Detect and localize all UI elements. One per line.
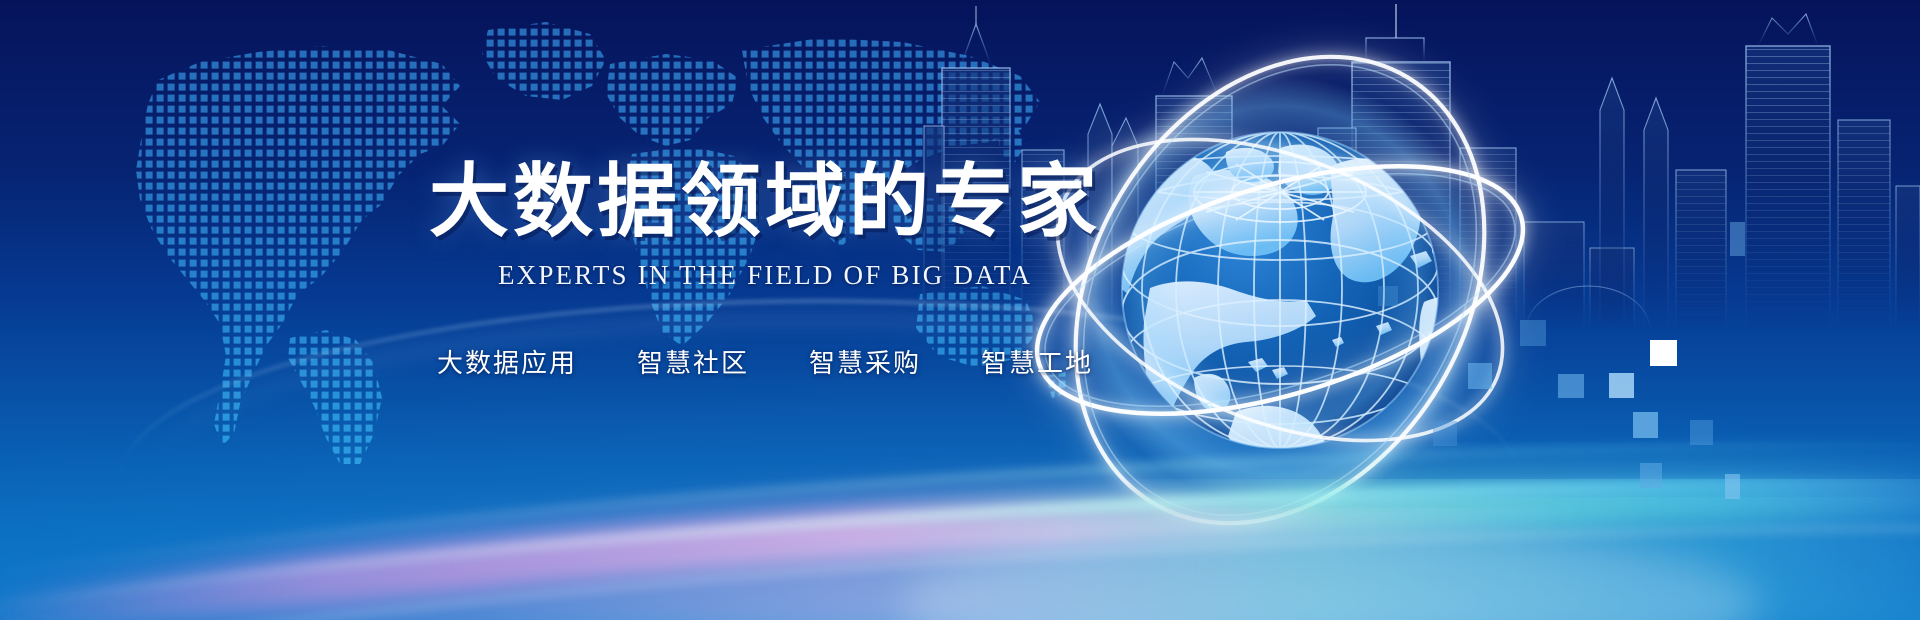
mosaic-square bbox=[1730, 222, 1745, 256]
aurora-wave-icon bbox=[0, 404, 1920, 620]
bottom-glow bbox=[0, 410, 1920, 620]
page-title: 大数据领域的专家 bbox=[415, 160, 1115, 244]
mosaic-square bbox=[1433, 421, 1457, 446]
mosaic-square bbox=[1520, 320, 1546, 346]
tag-item-0[interactable]: 大数据应用 bbox=[437, 343, 577, 380]
mosaic-square bbox=[1378, 286, 1398, 306]
square-mosaic-icon bbox=[1400, 300, 1920, 600]
tag-list: 大数据应用 智慧社区 智慧采购 智慧工地 bbox=[415, 343, 1115, 380]
tag-item-3[interactable]: 智慧工地 bbox=[981, 343, 1093, 380]
mosaic-square bbox=[1609, 373, 1634, 398]
tag-item-1[interactable]: 智慧社区 bbox=[637, 343, 749, 380]
mosaic-square bbox=[1725, 474, 1740, 499]
tag-item-2[interactable]: 智慧采购 bbox=[809, 343, 921, 380]
mosaic-square bbox=[1640, 463, 1662, 488]
page-subtitle: EXPERTS IN THE FIELD OF BIG DATA bbox=[415, 260, 1115, 291]
banner-content: 大数据领域的专家 EXPERTS IN THE FIELD OF BIG DAT… bbox=[415, 160, 1115, 380]
mosaic-square bbox=[1690, 420, 1713, 445]
big-data-banner: 大数据领域的专家 EXPERTS IN THE FIELD OF BIG DAT… bbox=[0, 0, 1920, 620]
mosaic-square bbox=[1468, 363, 1492, 389]
mosaic-square bbox=[1633, 412, 1658, 438]
mosaic-square bbox=[1558, 374, 1584, 398]
mosaic-square bbox=[1650, 340, 1677, 366]
